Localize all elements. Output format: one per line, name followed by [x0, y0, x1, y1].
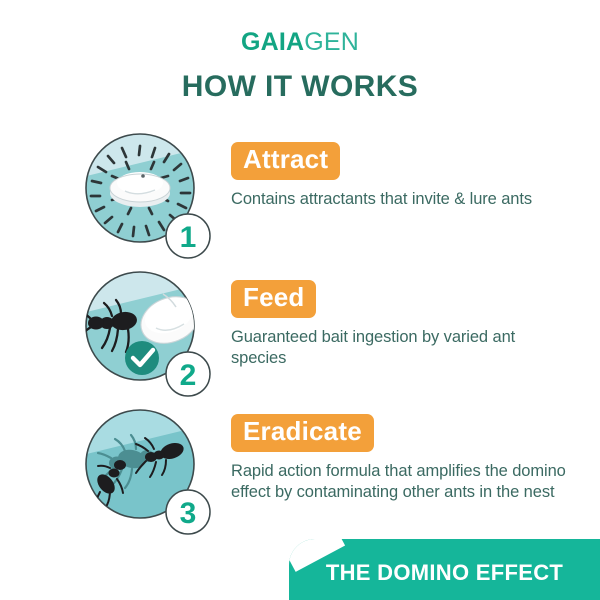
step-2-body-text: Guaranteed bait ingestion by varied ant …	[231, 327, 571, 371]
step-item-2: 2 Feed Guaranteed bait ingestion by vari…	[0, 262, 600, 402]
svg-text:3: 3	[180, 497, 197, 530]
brand-logo-primary: GAIA	[241, 28, 304, 56]
step-1-illustration: 1	[80, 128, 215, 263]
step-number-badge-3: 3	[166, 490, 210, 534]
step-number-badge-2: 2	[166, 352, 210, 396]
step-item-1: 1 Attract Contains attractants that invi…	[0, 124, 600, 264]
step-1-copy: Attract Contains attractants that invite…	[231, 142, 581, 210]
footer-banner: THE DOMINO EFFECT	[289, 539, 600, 600]
brand-logo-secondary: GEN	[304, 28, 359, 56]
step-number-badge-1: 1	[166, 214, 210, 258]
step-3-body-text: Rapid action formula that amplifies the …	[231, 461, 571, 505]
check-badge-2	[125, 341, 159, 375]
brand-logo: GAIAGEN	[0, 30, 600, 55]
footer-banner-text: THE DOMINO EFFECT	[289, 539, 600, 600]
step-item-3: 3 Eradicate Rapid action formula that am…	[0, 400, 600, 540]
step-1-badge-label: Attract	[231, 142, 340, 180]
svg-text:2: 2	[180, 359, 197, 392]
page-title: HOW IT WORKS	[0, 70, 600, 103]
step-3-illustration: 3	[80, 404, 215, 539]
step-3-badge-label: Eradicate	[231, 414, 374, 452]
step-3-copy: Eradicate Rapid action formula that ampl…	[231, 414, 581, 504]
svg-text:1: 1	[180, 221, 197, 254]
step-2-badge-label: Feed	[231, 280, 316, 318]
step-1-body-text: Contains attractants that invite & lure …	[231, 189, 571, 211]
step-2-copy: Feed Guaranteed bait ingestion by varied…	[231, 280, 581, 370]
step-2-illustration: 2	[80, 266, 215, 401]
infographic-page: GAIAGEN HOW IT WORKS	[0, 0, 600, 600]
